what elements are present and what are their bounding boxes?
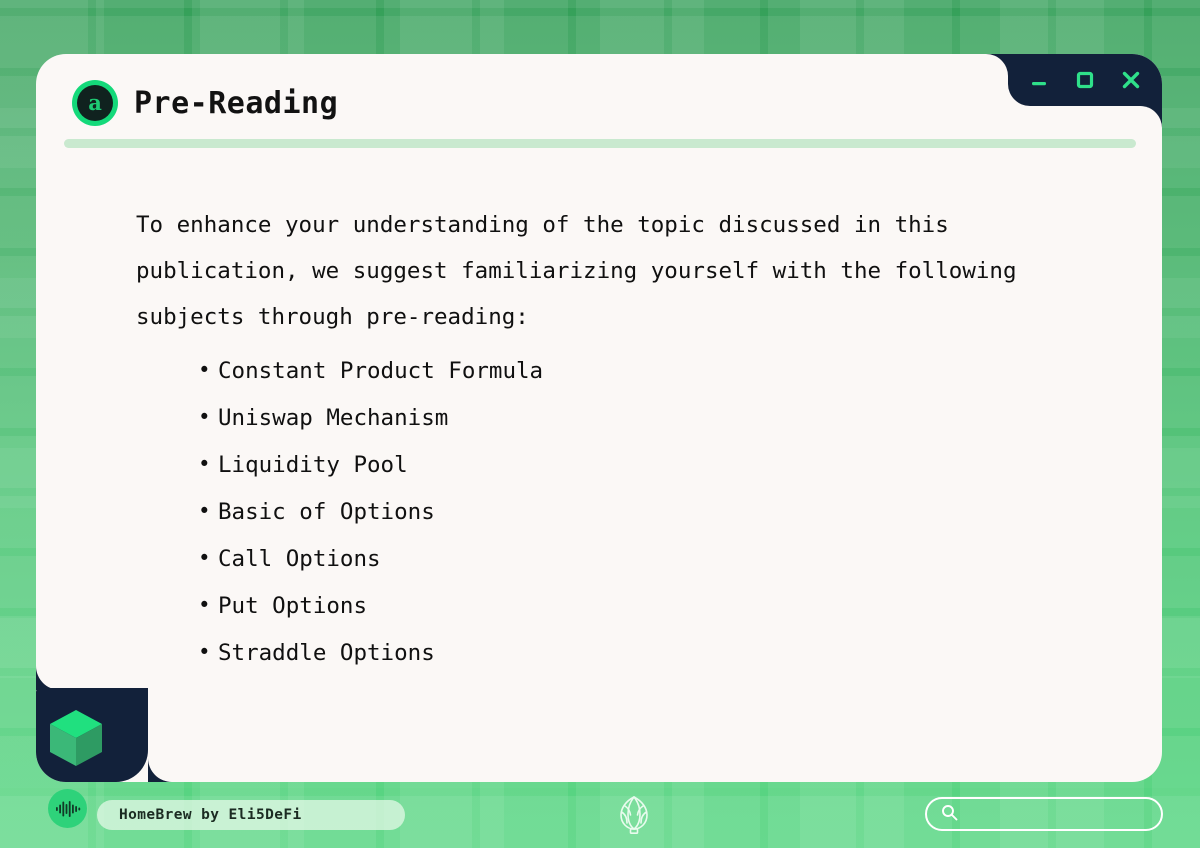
window-controls — [1008, 54, 1162, 106]
list-item: Straddle Options — [136, 630, 1102, 677]
brand-pill: HomeBrew by Eli5DeFi — [97, 800, 405, 830]
list-item: Uniswap Mechanism — [136, 395, 1102, 442]
page-title: Pre-Reading — [134, 86, 338, 121]
search-box[interactable] — [925, 797, 1163, 831]
list-item: Call Options — [136, 536, 1102, 583]
intro-paragraph: To enhance your understanding of the top… — [136, 202, 1081, 340]
app-window: a Pre-Reading To enhance your understand… — [0, 0, 1200, 848]
list-item: Constant Product Formula — [136, 348, 1102, 395]
list-item: Put Options — [136, 583, 1102, 630]
brand-label: HomeBrew by Eli5DeFi — [119, 807, 302, 823]
card-body: To enhance your understanding of the top… — [136, 202, 1102, 677]
title-row: a Pre-Reading — [72, 80, 338, 126]
list-item: Basic of Options — [136, 489, 1102, 536]
titlebar-notch-left — [986, 54, 1008, 76]
minimize-icon[interactable] — [1027, 68, 1051, 92]
artichoke-icon — [615, 793, 653, 839]
titlebar-notch-bottom — [1140, 106, 1162, 128]
list-item: Liquidity Pool — [136, 442, 1102, 489]
cube-icon — [48, 708, 104, 774]
prereading-list: Constant Product Formula Uniswap Mechani… — [136, 348, 1102, 677]
close-icon[interactable] — [1119, 68, 1143, 92]
cube-notch-top — [36, 666, 60, 690]
search-icon — [941, 804, 958, 825]
header-divider — [64, 139, 1136, 148]
cube-notch-right — [148, 758, 172, 782]
logo-letter: a — [77, 85, 113, 121]
search-input[interactable] — [966, 807, 1156, 822]
waveform-icon[interactable] — [48, 789, 87, 828]
maximize-icon[interactable] — [1073, 68, 1097, 92]
letter-a-badge-icon: a — [72, 80, 118, 126]
content-card: a Pre-Reading To enhance your understand… — [36, 54, 1162, 782]
